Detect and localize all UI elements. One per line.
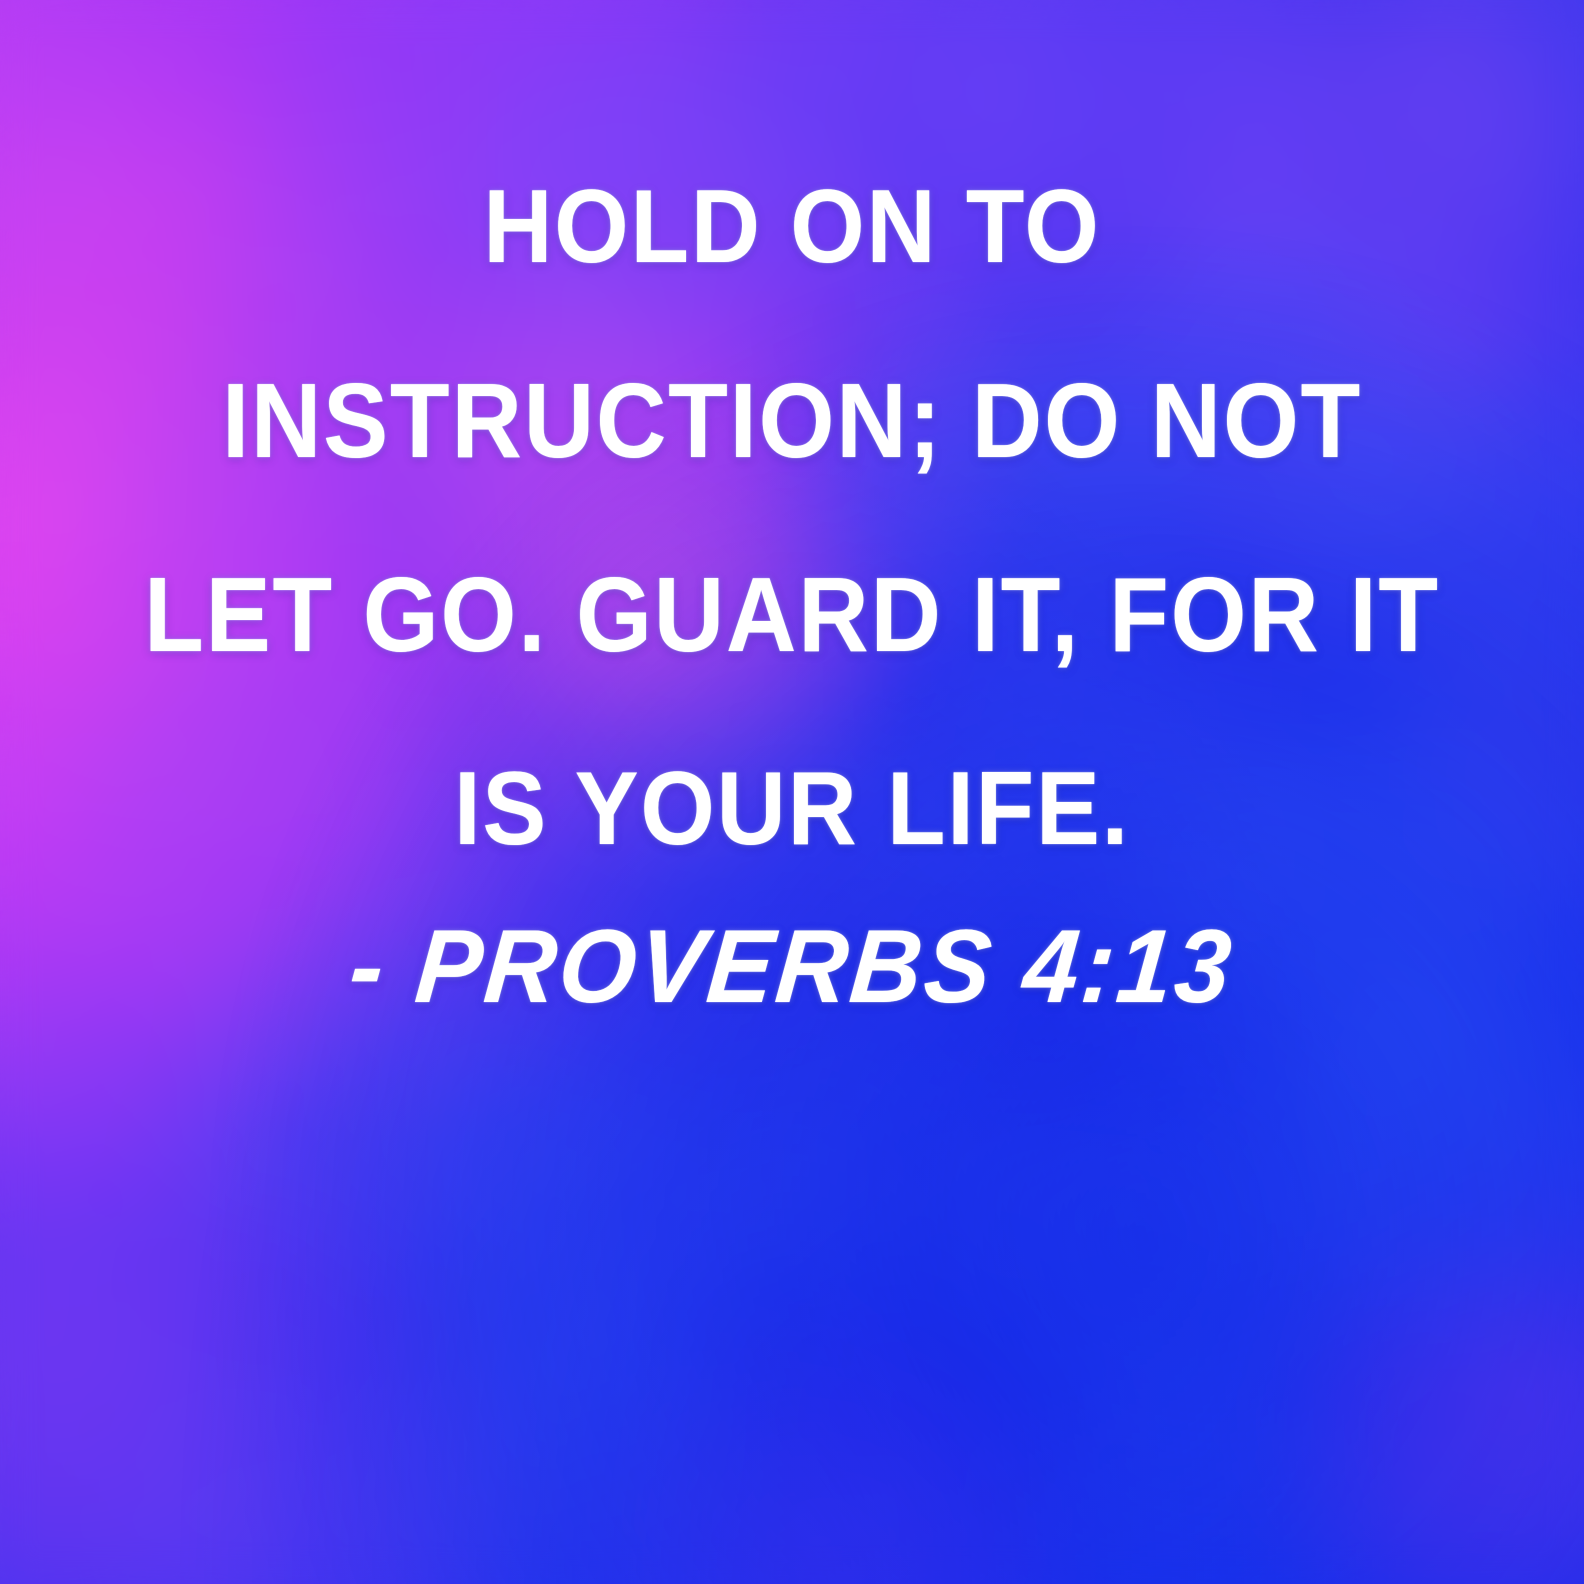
verse-line-2: INSTRUCTION; DO NOT bbox=[63, 324, 1520, 518]
bokeh-disc bbox=[681, 1378, 1061, 1584]
bokeh-disc bbox=[0, 966, 301, 1378]
attribution-row: - PROVERBS 4:13 bbox=[0, 908, 1584, 1027]
bokeh-disc bbox=[982, 1077, 1362, 1457]
bokeh-disc bbox=[1030, 1346, 1378, 1584]
bokeh-disc bbox=[729, 998, 1077, 1346]
verse-line-1: HOLD ON TO bbox=[63, 130, 1520, 324]
bokeh-disc bbox=[412, 1030, 824, 1442]
bokeh-disc bbox=[1315, 1283, 1584, 1584]
bokeh-disc bbox=[412, 1315, 760, 1584]
bokeh-disc bbox=[1267, 998, 1584, 1346]
verse-line-3: LET GO. GUARD IT, FOR IT bbox=[63, 518, 1520, 712]
verse-line-4: IS YOUR LIFE. bbox=[63, 712, 1520, 906]
bokeh-disc bbox=[127, 1331, 507, 1584]
verse-reference: - PROVERBS 4:13 bbox=[345, 908, 1238, 1027]
verse-image-canvas: HOLD ON TO INSTRUCTION; DO NOT LET GO. G… bbox=[0, 0, 1584, 1584]
bokeh-disc bbox=[0, 1283, 238, 1584]
verse-text-block: HOLD ON TO INSTRUCTION; DO NOT LET GO. G… bbox=[0, 130, 1584, 906]
